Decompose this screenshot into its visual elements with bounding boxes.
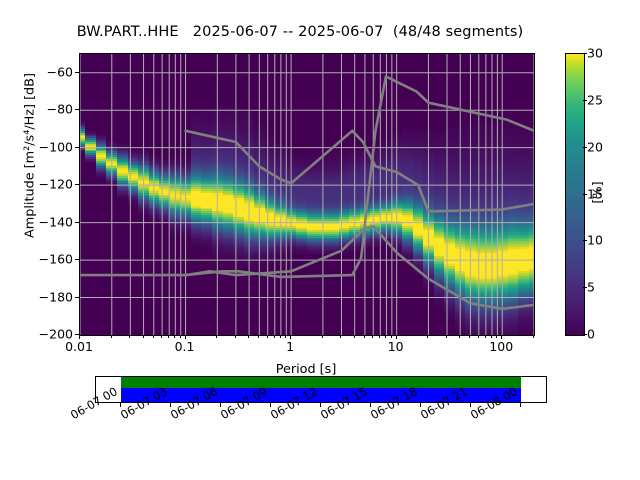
colorbar-tick-label: 30	[587, 46, 603, 61]
x-tick-mark	[274, 335, 275, 338]
x-tick-mark	[446, 335, 447, 338]
y-tick-mark	[75, 222, 79, 223]
x-tick-mark	[129, 335, 130, 338]
colorbar-tick-label: 0	[587, 327, 595, 342]
y-tick-label: −120	[39, 177, 73, 192]
y-tick-mark	[75, 109, 79, 110]
x-tick-label: 100	[489, 339, 513, 354]
x-tick-mark	[168, 335, 169, 338]
y-tick-mark	[75, 147, 79, 148]
y-tick-mark	[75, 184, 79, 185]
timeline-tick-label: 06-07 00	[68, 384, 120, 422]
x-tick-mark	[391, 335, 392, 338]
y-tick-label: −80	[47, 102, 73, 117]
x-tick-mark	[354, 335, 355, 338]
timeline-tick-mark	[320, 402, 321, 407]
colorbar-tick-mark	[583, 147, 587, 148]
x-tick-mark	[235, 335, 236, 338]
colorbar-tick-label: 25	[587, 92, 603, 107]
x-tick-mark	[340, 335, 341, 338]
y-tick-mark	[75, 72, 79, 73]
x-tick-label: 0.01	[65, 339, 93, 354]
timeline-tick-mark	[270, 402, 271, 407]
y-tick-label: −160	[39, 252, 73, 267]
x-tick-mark	[485, 335, 486, 338]
timeline-tick-mark	[420, 402, 421, 407]
y-tick-label: −140	[39, 214, 73, 229]
y-tick-mark	[75, 259, 79, 260]
x-tick-mark	[143, 335, 144, 338]
x-tick-mark	[533, 335, 534, 338]
y-tick-label: −60	[47, 64, 73, 79]
colorbar-tick-mark	[583, 240, 587, 241]
x-tick-mark	[111, 335, 112, 338]
x-tick-mark	[161, 335, 162, 338]
y-tick-label: −100	[39, 139, 73, 154]
x-tick-mark	[248, 335, 249, 338]
x-tick-mark	[496, 335, 497, 338]
x-tick-mark	[322, 335, 323, 338]
x-tick-mark	[379, 335, 380, 338]
x-tick-mark	[285, 335, 286, 338]
x-tick-mark	[280, 335, 281, 338]
y-tick-label: −180	[39, 289, 73, 304]
x-tick-label: 0.1	[175, 339, 195, 354]
x-tick-mark	[491, 335, 492, 338]
timeline-tick-mark	[470, 402, 471, 407]
colorbar-label: [%]	[591, 153, 606, 233]
x-tick-mark	[478, 335, 479, 338]
x-tick-mark	[180, 335, 181, 338]
colorbar-tick-mark	[583, 287, 587, 288]
x-tick-label: 10	[388, 339, 404, 354]
page-title: BW.PART..HHE 2025-06-07 -- 2025-06-07 (4…	[0, 24, 600, 40]
x-tick-mark	[267, 335, 268, 338]
colorbar-tick-label: 10	[587, 233, 603, 248]
timeline-tick-mark	[170, 402, 171, 407]
x-axis-label: Period [s]	[79, 362, 533, 377]
colorbar-tick-label: 5	[587, 280, 595, 295]
ppsd-plot-area	[79, 53, 535, 336]
x-tick-mark	[153, 335, 154, 338]
x-tick-mark	[459, 335, 460, 338]
timeline-tick-mark	[220, 402, 221, 407]
x-tick-mark	[258, 335, 259, 338]
x-tick-mark	[364, 335, 365, 338]
x-tick-mark	[174, 335, 175, 338]
x-tick-mark	[216, 335, 217, 338]
colorbar-tick-mark	[583, 53, 587, 54]
x-tick-mark	[469, 335, 470, 338]
colorbar-tick-mark	[583, 194, 587, 195]
timeline-tick-mark	[370, 402, 371, 407]
colorbar-tick-mark	[583, 100, 587, 101]
x-tick-mark	[385, 335, 386, 338]
x-tick-mark	[372, 335, 373, 338]
colorbar-tick-mark	[583, 334, 587, 335]
y-tick-mark	[75, 297, 79, 298]
noise-model-curves	[80, 54, 534, 335]
y-axis-label: Amplitude [m²/s⁴/Hz] [dB]	[23, 16, 38, 296]
timeline-tick-mark	[520, 402, 521, 407]
x-tick-label: 1	[286, 339, 294, 354]
colorbar	[565, 53, 585, 336]
x-tick-mark	[427, 335, 428, 338]
ppsd-figure: BW.PART..HHE 2025-06-07 -- 2025-06-07 (4…	[0, 0, 640, 480]
timeline-tick-mark	[120, 402, 121, 407]
